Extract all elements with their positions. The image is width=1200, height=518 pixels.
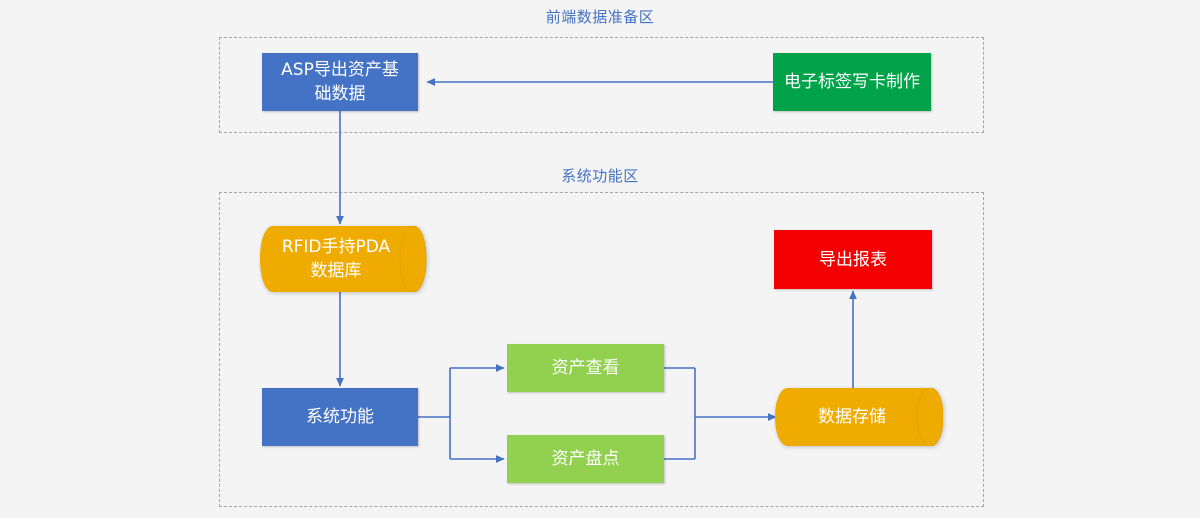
node-asset-view-label: 资产查看 [546,356,626,380]
zone-title-frontend: 前端数据准备区 [499,7,701,27]
node-tag-writer[interactable]: 电子标签写卡制作 [773,53,931,111]
node-data-storage-label: 数据存储 [775,388,943,446]
node-system-function-label: 系统功能 [300,405,380,429]
node-asset-count-label: 资产盘点 [546,447,626,471]
node-export-report[interactable]: 导出报表 [774,230,932,289]
node-data-storage[interactable]: 数据存储 [775,388,943,446]
node-asp-export[interactable]: ASP导出资产基 础数据 [262,53,418,111]
node-asset-view[interactable]: 资产查看 [507,344,664,392]
node-asset-count[interactable]: 资产盘点 [507,435,664,483]
node-export-report-label: 导出报表 [813,248,893,272]
node-pda-database-label: RFID手持PDA 数据库 [259,226,427,292]
node-system-function[interactable]: 系统功能 [262,388,418,446]
flowchart-canvas: 前端数据准备区 系统功能区 [0,0,1200,518]
node-asp-export-label: ASP导出资产基 础数据 [275,58,405,106]
node-tag-writer-label: 电子标签写卡制作 [778,70,926,94]
zone-title-system: 系统功能区 [524,166,676,186]
node-pda-database[interactable]: RFID手持PDA 数据库 [259,226,427,292]
